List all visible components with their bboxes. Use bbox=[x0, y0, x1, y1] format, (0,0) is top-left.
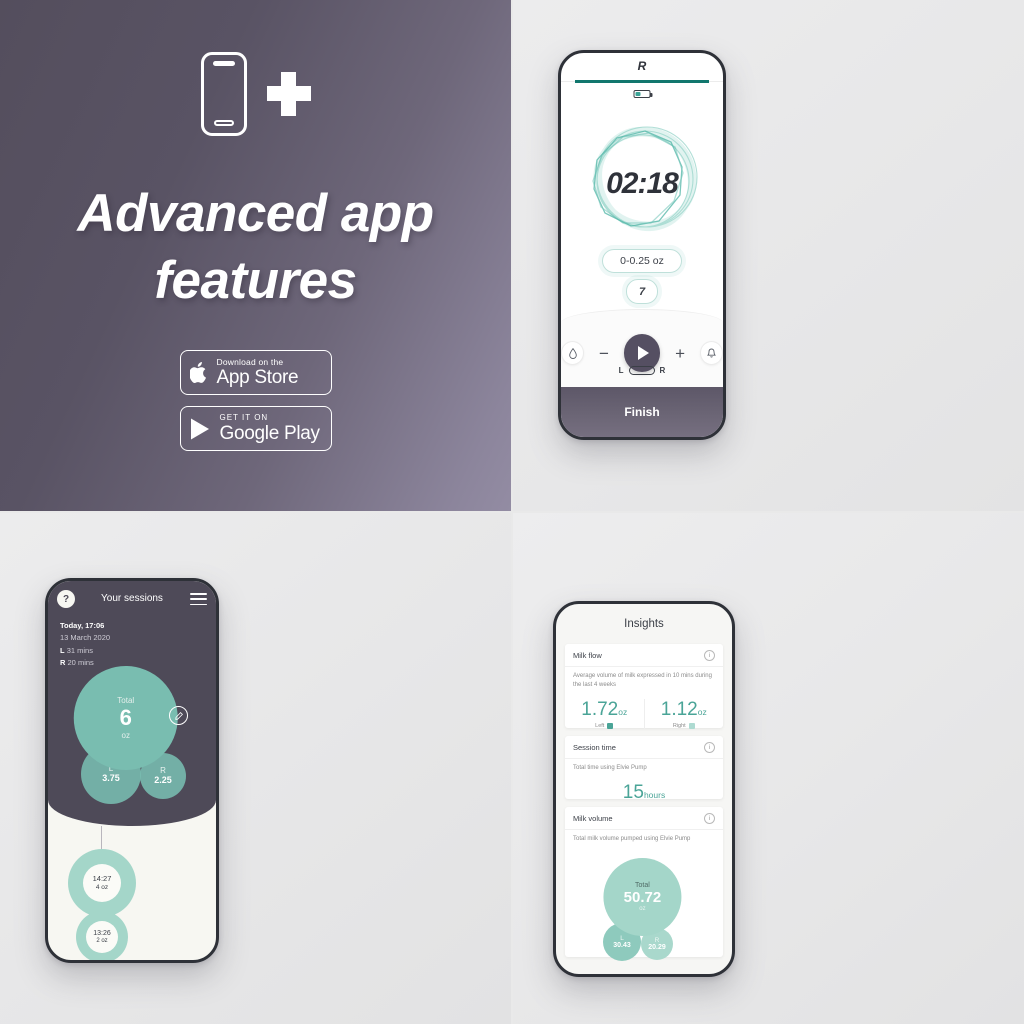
session-bubble-inner: 13:26 2 oz bbox=[86, 921, 118, 953]
promo-title-line-2: features bbox=[0, 248, 511, 315]
device-volume-button bbox=[732, 750, 735, 792]
volume-right-label: R bbox=[655, 937, 660, 944]
bubble-total-unit: oz bbox=[122, 731, 130, 740]
milk-flow-left-value: 1.72oz bbox=[565, 699, 644, 721]
session-left-label: L bbox=[60, 646, 65, 655]
card-title: Milk flow bbox=[573, 651, 602, 660]
side-toggle-track[interactable] bbox=[629, 366, 655, 375]
session-time: 13:26 bbox=[93, 929, 111, 938]
card-subtitle: Average volume of milk expressed in 10 m… bbox=[565, 667, 723, 691]
session-left-value: 31 mins bbox=[67, 646, 93, 655]
session-time-value: 15hours bbox=[565, 782, 723, 804]
info-icon[interactable]: i bbox=[704, 813, 715, 824]
volume-left-label: L bbox=[620, 935, 624, 942]
promo-icon-row bbox=[0, 52, 511, 136]
device-volume-button bbox=[216, 737, 219, 779]
insights-title: Insights bbox=[556, 618, 732, 630]
card-title: Milk volume bbox=[573, 814, 613, 823]
milk-flow-values: 1.72oz Left 1.12oz Right bbox=[565, 699, 723, 729]
volume-total-value: 50.72 bbox=[624, 890, 662, 907]
timer-ring: 02:18 bbox=[561, 115, 723, 243]
session-right-label: R bbox=[60, 658, 65, 667]
phone-outline-icon bbox=[201, 52, 247, 136]
side-toggle[interactable]: L R bbox=[561, 366, 723, 375]
volume-readout: 0-0.25 oz bbox=[602, 249, 682, 273]
control-screen-header: R bbox=[561, 53, 723, 80]
legend-swatch-right bbox=[689, 723, 695, 729]
phone-speaker-notch bbox=[213, 61, 235, 66]
session-timer: 02:18 bbox=[561, 167, 723, 201]
progress-bar bbox=[575, 80, 709, 83]
volume-left-value: 30.43 bbox=[613, 942, 631, 950]
device-side-button bbox=[216, 701, 219, 727]
google-play-icon bbox=[190, 417, 212, 441]
card-session-time[interactable]: Session time i Total time using Elvie Pu… bbox=[565, 736, 723, 799]
store-badge-group: Download on the App Store GET IT ON Goog… bbox=[0, 350, 511, 451]
phone-device-history: ? Your sessions Today, 17:06 13 March 20… bbox=[45, 578, 219, 963]
milk-volume-chart: L 30.43 R 20.29 Total 50.72 oz bbox=[565, 844, 723, 952]
droplet-icon[interactable] bbox=[561, 341, 584, 365]
control-panel: R bbox=[513, 0, 1024, 511]
card-subtitle: Total milk volume pumped using Elvie Pum… bbox=[565, 830, 723, 844]
info-icon[interactable]: i bbox=[704, 650, 715, 661]
suction-level: 7 bbox=[626, 279, 658, 304]
bell-icon[interactable] bbox=[700, 341, 723, 365]
app-store-badge-text: Download on the App Store bbox=[217, 358, 299, 388]
card-milk-flow[interactable]: Milk flow i Average volume of milk expre… bbox=[565, 644, 723, 728]
session-date: 13 March 2020 bbox=[60, 632, 110, 644]
session-volume: 4 oz bbox=[96, 884, 108, 892]
app-store-badge-big: App Store bbox=[217, 368, 299, 387]
google-play-badge-small: GET IT ON bbox=[220, 414, 320, 422]
increase-button[interactable]: + bbox=[672, 345, 687, 362]
card-header: Session time i bbox=[565, 736, 723, 759]
google-play-badge-text: GET IT ON Google Play bbox=[220, 414, 320, 443]
promo-panel: Advanced app features Download on the Ap… bbox=[0, 0, 511, 511]
bubble-left-value: 3.75 bbox=[102, 773, 120, 783]
side-toggle-right-label: R bbox=[660, 366, 666, 375]
bubble-total-value: 6 bbox=[120, 707, 132, 729]
bubble-total: Total 6 oz bbox=[74, 666, 178, 770]
session-bubble-inner: 14:27 4 oz bbox=[83, 864, 121, 902]
card-milk-volume[interactable]: Milk volume i Total milk volume pumped u… bbox=[565, 807, 723, 957]
promo-collage: Advanced app features Download on the Ap… bbox=[0, 0, 1024, 1024]
apple-logo-icon bbox=[190, 361, 209, 384]
session-meta: Today, 17:06 13 March 2020 L 31 mins R 2… bbox=[60, 620, 110, 670]
bubble-right-value: 2.25 bbox=[154, 775, 172, 785]
finish-button[interactable]: Finish bbox=[561, 387, 723, 437]
list-item[interactable]: 13:26 2 oz bbox=[76, 911, 128, 963]
card-title: Session time bbox=[573, 743, 616, 752]
google-play-badge-big: Google Play bbox=[220, 424, 320, 443]
device-side-button bbox=[732, 714, 735, 740]
session-time: 14:27 bbox=[93, 874, 112, 884]
volume-right-value: 20.29 bbox=[648, 944, 666, 952]
milk-flow-right: 1.12oz Right bbox=[644, 699, 724, 729]
phone-device-insights: Insights Milk flow i Average volume of m… bbox=[553, 601, 735, 977]
insights-panel: Insights Milk flow i Average volume of m… bbox=[513, 513, 1024, 1024]
milk-flow-right-label: Right bbox=[645, 723, 724, 729]
session-right-value: 20 mins bbox=[68, 658, 94, 667]
legend-swatch-left bbox=[607, 723, 613, 729]
page-title: Advanced app features bbox=[0, 181, 511, 315]
decrease-button[interactable]: − bbox=[596, 345, 611, 362]
app-store-badge-small: Download on the bbox=[217, 358, 299, 367]
volume-bubble-total: Total 50.72 oz bbox=[603, 858, 681, 936]
milk-flow-left-label: Left bbox=[565, 723, 644, 729]
info-icon[interactable]: i bbox=[704, 742, 715, 753]
battery-icon bbox=[634, 90, 651, 98]
phone-home-indicator bbox=[214, 120, 234, 126]
milk-flow-right-value: 1.12oz bbox=[645, 699, 724, 721]
history-app-bar: ? Your sessions bbox=[48, 590, 216, 610]
session-today: Today, 17:06 bbox=[60, 620, 110, 632]
active-side-label: R bbox=[561, 59, 723, 73]
side-toggle-left-label: L bbox=[619, 366, 624, 375]
control-tray: − + L R bbox=[561, 309, 723, 388]
session-volume: 2 oz bbox=[96, 938, 107, 946]
promo-title-line-1: Advanced app bbox=[0, 181, 511, 248]
volume-total-unit: oz bbox=[639, 906, 645, 913]
google-play-badge[interactable]: GET IT ON Google Play bbox=[180, 406, 332, 451]
milk-flow-left: 1.72oz Left bbox=[565, 699, 644, 729]
bubble-right-label: R bbox=[160, 766, 166, 775]
card-header: Milk volume i bbox=[565, 807, 723, 830]
pencil-edit-icon[interactable] bbox=[169, 706, 188, 725]
phone-device-control: R bbox=[558, 50, 726, 440]
card-subtitle: Total time using Elvie Pump bbox=[565, 759, 723, 773]
list-item[interactable]: 14:27 4 oz bbox=[68, 849, 136, 917]
card-header: Milk flow i bbox=[565, 644, 723, 667]
history-panel: ? Your sessions Today, 17:06 13 March 20… bbox=[0, 513, 511, 1024]
app-store-badge[interactable]: Download on the App Store bbox=[180, 350, 332, 395]
hamburger-menu-icon[interactable] bbox=[190, 593, 207, 609]
plus-icon bbox=[267, 72, 311, 116]
